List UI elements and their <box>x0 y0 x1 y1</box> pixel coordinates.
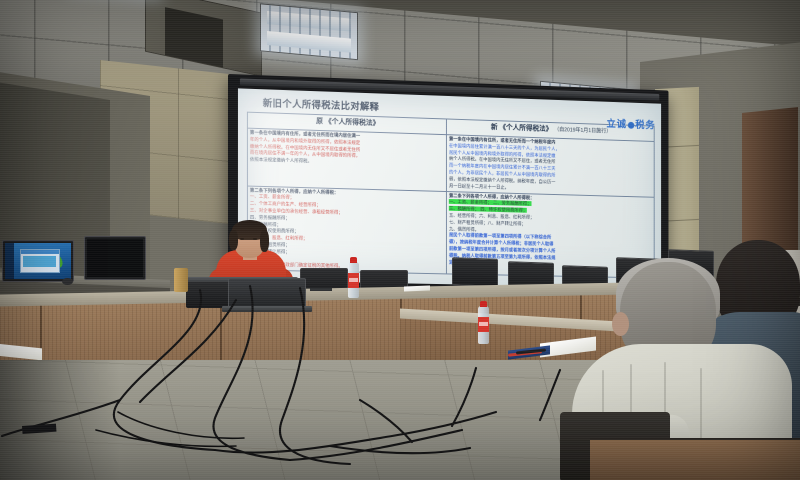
logo-dot-icon <box>628 122 634 129</box>
conference-room-photo: 新旧个人所得税法比对解释 立诚税务 原 《个人所得税法》 新 《个人所得税法》 … <box>0 0 800 480</box>
projection-screen-bezel: 新旧个人所得税法比对解释 立诚税务 原 《个人所得税法》 新 《个人所得税法》 … <box>228 74 668 296</box>
new-a2-item-4: 七、财产租赁所得；八、财产转让所得； <box>449 219 526 226</box>
presenter-hair-side-left <box>229 230 238 250</box>
old-a2-item-2: 二、个体工商户的生产、经营所得； <box>250 201 321 208</box>
new-law-header-sub: （自2019年1月1日施行） <box>554 127 611 135</box>
control-monitor-right[interactable] <box>84 236 146 280</box>
windows-desktop <box>5 243 71 279</box>
mouse-device[interactable] <box>62 278 73 285</box>
old-a2-item-4: 四、劳务报酬所得； <box>250 214 290 220</box>
thermos-cup <box>174 268 188 292</box>
open-window[interactable] <box>20 249 60 273</box>
chair-back <box>452 257 498 287</box>
water-bottle-podium <box>348 262 359 298</box>
old-law-header-text: 原 《个人所得税法》 <box>316 118 379 127</box>
presenter-laptop-base[interactable] <box>222 306 312 312</box>
old-a2-item-1: 一、工资、薪金所得； <box>250 194 294 200</box>
new-law-header-text: 新 《个人所得税法》 <box>491 124 552 133</box>
comparison-table: 原 《个人所得税法》 新 《个人所得税法》 （自2019年1月1日施行） 第一条… <box>247 112 655 279</box>
table-cell-old-article1: 第一条在中国境内有住所，或者无住所而在境内居住满一 年的个人，从中国境内和境外取… <box>247 128 446 191</box>
water-bottle-audience <box>478 306 489 344</box>
table-cell-new-article1: 第一条在中国境内有住所，或者无住所而一个纳税年度内 在中国境内居住累计满一百八十… <box>447 135 655 197</box>
company-logo: 立诚税务 <box>606 115 655 131</box>
control-monitor-left[interactable] <box>2 240 74 282</box>
logo-left-text: 立诚 <box>606 119 626 130</box>
logo-right-text: 税务 <box>635 120 655 131</box>
old-a1-line-5: 依照本法规定缴纳个人所得税。 <box>250 157 312 164</box>
presenter-hair-side-right <box>260 230 269 252</box>
new-a2-item-5: 九、偶然所得。 <box>449 226 479 232</box>
presenter-eye-left <box>240 238 244 240</box>
presenter-eye-right <box>253 238 257 240</box>
projection-screen: 新旧个人所得税法比对解释 立诚税务 原 《个人所得税法》 新 《个人所得税法》 … <box>238 88 661 288</box>
paper-sheet-desk <box>404 286 430 292</box>
new-a2-item-2: 三、稿酬所得； 四、特许权使用费所得； <box>449 206 527 213</box>
attendee-front-ear <box>612 312 629 336</box>
ceiling-light-panel <box>260 3 358 60</box>
slide-content: 新旧个人所得税法比对解释 立诚税务 原 《个人所得税法》 新 《个人所得税法》 … <box>238 88 661 288</box>
floor-shadow <box>0 360 120 480</box>
new-a1-line-8: 月一日起至十二月三十一日止。 <box>449 183 509 190</box>
new-a2-item-3: 五、经营所得；六、利息、股息、红利所得； <box>449 213 534 220</box>
taskbar[interactable] <box>5 243 14 279</box>
chair-foreground-seat <box>590 438 800 480</box>
cable-connector <box>310 288 332 291</box>
